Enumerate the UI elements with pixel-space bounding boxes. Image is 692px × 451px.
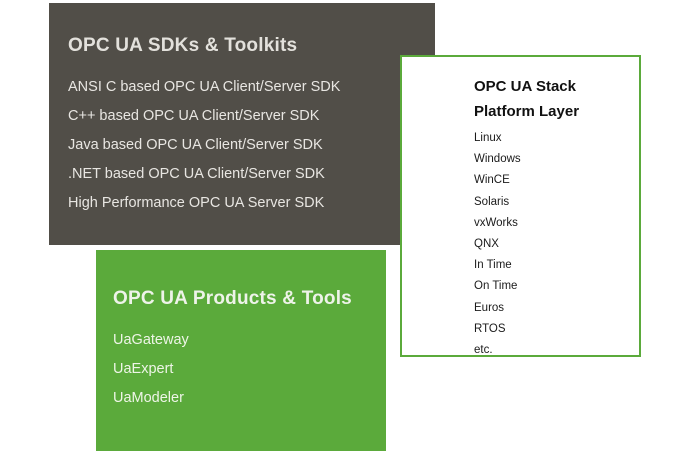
panel-products-heading: OPC UA Products & Tools — [113, 288, 352, 310]
panel-products-tools: OPC UA Products & Tools UaGateway UaExpe… — [96, 250, 386, 451]
panel-products-list: UaGateway UaExpert UaModeler — [113, 326, 189, 413]
list-item: Java based OPC UA Client/Server SDK — [68, 131, 340, 160]
diagram-canvas: OPC UA SDKs & Toolkits ANSI C based OPC … — [0, 0, 692, 451]
list-item: ANSI C based OPC UA Client/Server SDK — [68, 73, 340, 102]
panel-sdks-toolkits: OPC UA SDKs & Toolkits ANSI C based OPC … — [49, 3, 435, 245]
list-item: Windows — [474, 149, 521, 170]
list-item: UaGateway — [113, 326, 189, 355]
list-item: UaModeler — [113, 384, 189, 413]
list-item: In Time — [474, 255, 521, 276]
list-item: Linux — [474, 128, 521, 149]
list-item: C++ based OPC UA Client/Server SDK — [68, 102, 340, 131]
panel-stack-list: Linux Windows WinCE Solaris vxWorks QNX … — [474, 128, 521, 361]
list-item: WinCE — [474, 170, 521, 191]
list-item: On Time — [474, 276, 521, 297]
list-item: RTOS — [474, 319, 521, 340]
list-item: etc. — [474, 340, 521, 361]
panel-stack-heading: OPC UA Stack Platform Layer — [474, 74, 579, 124]
panel-sdks-heading: OPC UA SDKs & Toolkits — [68, 35, 297, 57]
list-item: QNX — [474, 234, 521, 255]
panel-stack-heading-line2: Platform Layer — [474, 99, 579, 124]
list-item: .NET based OPC UA Client/Server SDK — [68, 160, 340, 189]
list-item: vxWorks — [474, 213, 521, 234]
list-item: UaExpert — [113, 355, 189, 384]
panel-stack-platform-layer: OPC UA Stack Platform Layer Linux Window… — [400, 55, 641, 357]
panel-stack-heading-line1: OPC UA Stack — [474, 74, 579, 99]
list-item: Solaris — [474, 192, 521, 213]
list-item: High Performance OPC UA Server SDK — [68, 189, 340, 218]
panel-sdks-list: ANSI C based OPC UA Client/Server SDK C+… — [68, 73, 340, 218]
list-item: Euros — [474, 298, 521, 319]
